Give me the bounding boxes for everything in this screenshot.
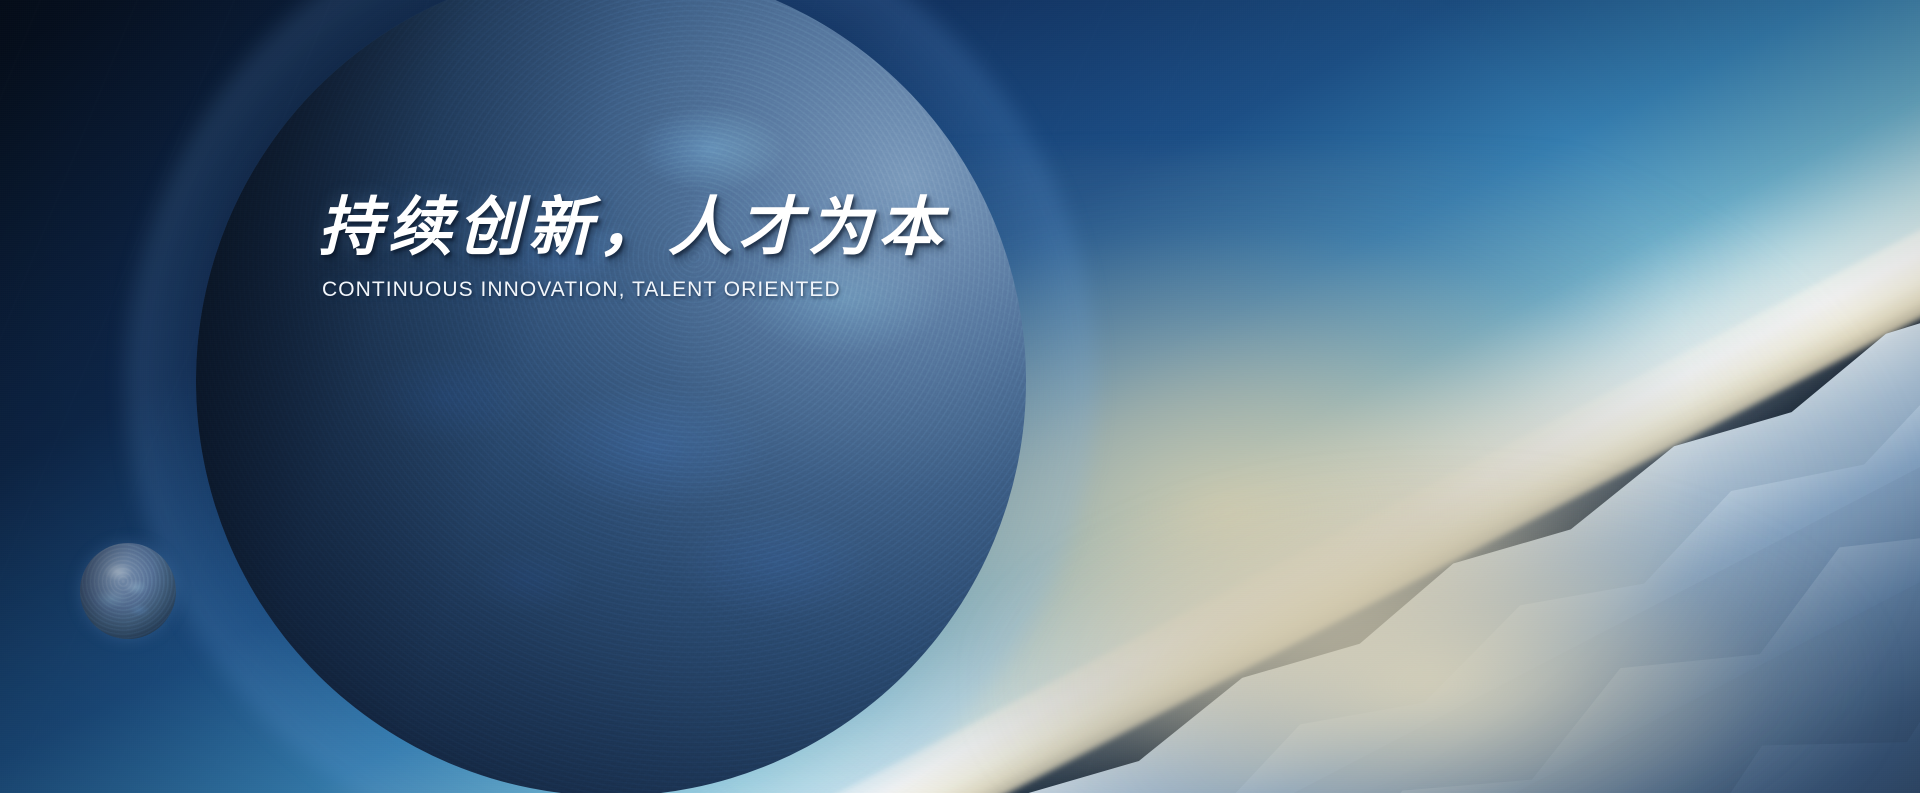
- small-moon: [80, 543, 176, 639]
- banner-subheadline: CONTINUOUS INNOVATION, TALENT ORIENTED: [322, 278, 1218, 302]
- moon-shadow: [80, 543, 176, 639]
- planet-terminator-shadow: [196, 0, 1026, 793]
- banner-headline: 持续创新，人才为本: [318, 196, 1218, 260]
- planet-sphere: [196, 0, 1026, 793]
- large-planet: [196, 0, 1026, 793]
- banner-copy: 持续创新，人才为本 CONTINUOUS INNOVATION, TALENT …: [318, 196, 1218, 302]
- dust-haze-core: [980, 433, 1880, 793]
- hero-banner: 持续创新，人才为本 CONTINUOUS INNOVATION, TALENT …: [0, 0, 1920, 793]
